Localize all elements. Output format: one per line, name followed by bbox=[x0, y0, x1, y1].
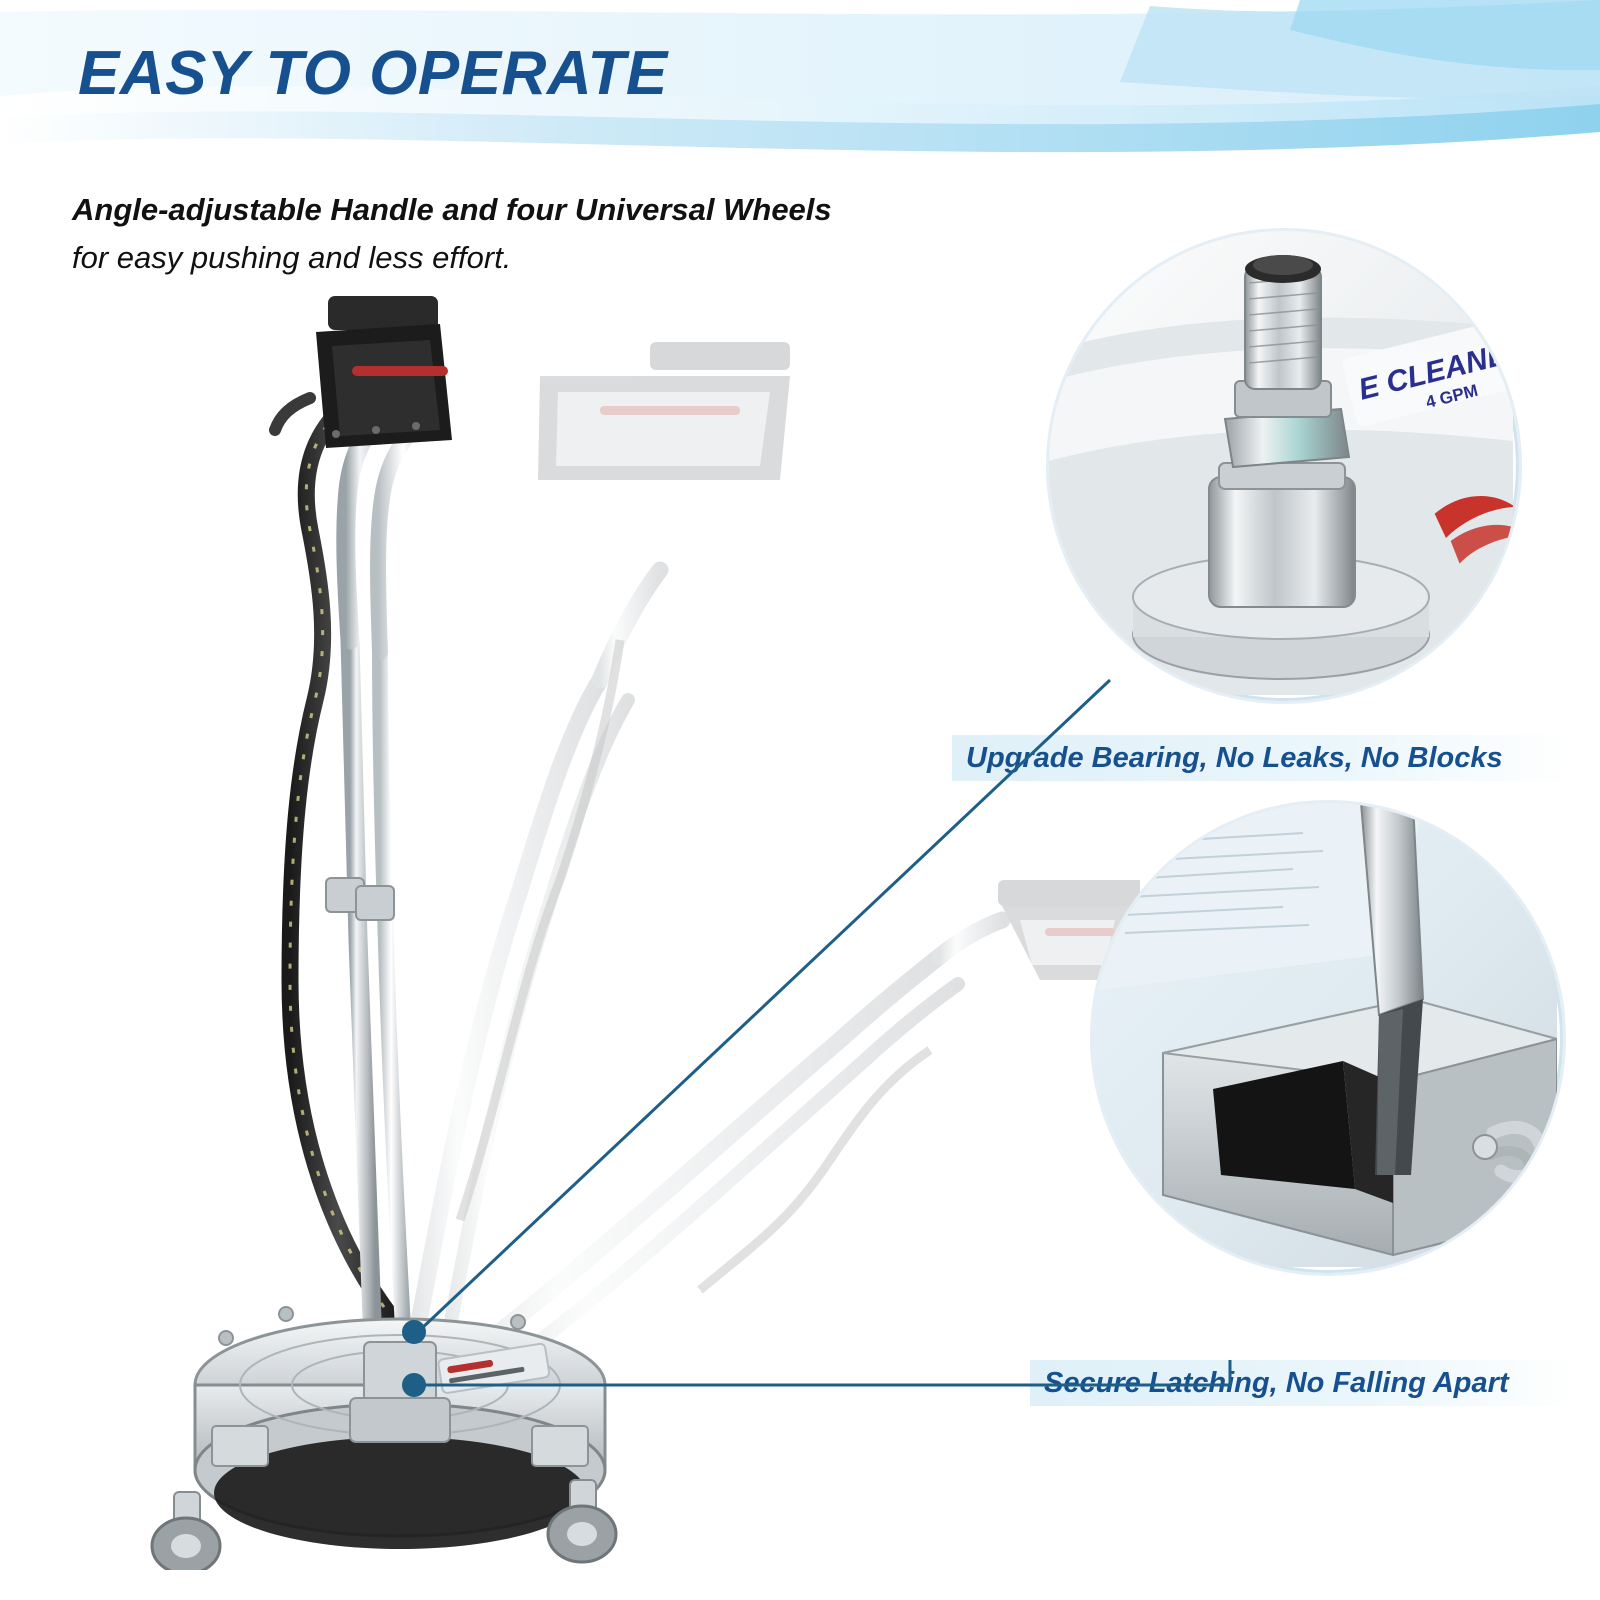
product-illustration bbox=[140, 280, 1140, 1570]
brush-skirt bbox=[214, 1437, 586, 1549]
caster-wheel-left bbox=[152, 1492, 220, 1570]
callout-label-bearing-text: Upgrade Bearing, No Leaks, No Blocks bbox=[966, 742, 1503, 775]
handle-ghost-mid bbox=[410, 342, 790, 1380]
bearing-closeup-graphic: E CLEANER 4 GPM bbox=[1049, 231, 1513, 695]
trigger-lever bbox=[352, 366, 448, 376]
callout-photo-latch bbox=[1090, 800, 1566, 1276]
trigger-gun-top bbox=[328, 296, 438, 330]
page-header: EASY TO OPERATE bbox=[0, 0, 1600, 170]
latch-closeup-graphic bbox=[1093, 803, 1557, 1267]
page-title: EASY TO OPERATE bbox=[78, 38, 668, 109]
callout-label-latch: Secure Latching, No Falling Apart bbox=[1030, 1360, 1575, 1406]
subtitle-line-1: Angle-adjustable Handle and four Univers… bbox=[72, 192, 832, 228]
subtitle-line-2: for easy pushing and less effort. bbox=[72, 240, 511, 276]
cleaner-base-disc bbox=[152, 1307, 616, 1570]
callout-label-latch-text: Secure Latching, No Falling Apart bbox=[1044, 1367, 1509, 1400]
callout-label-bearing: Upgrade Bearing, No Leaks, No Blocks bbox=[952, 735, 1572, 781]
surface-cleaner-drawing bbox=[140, 280, 1140, 1570]
callout-photo-bearing: E CLEANER 4 GPM bbox=[1046, 228, 1522, 704]
